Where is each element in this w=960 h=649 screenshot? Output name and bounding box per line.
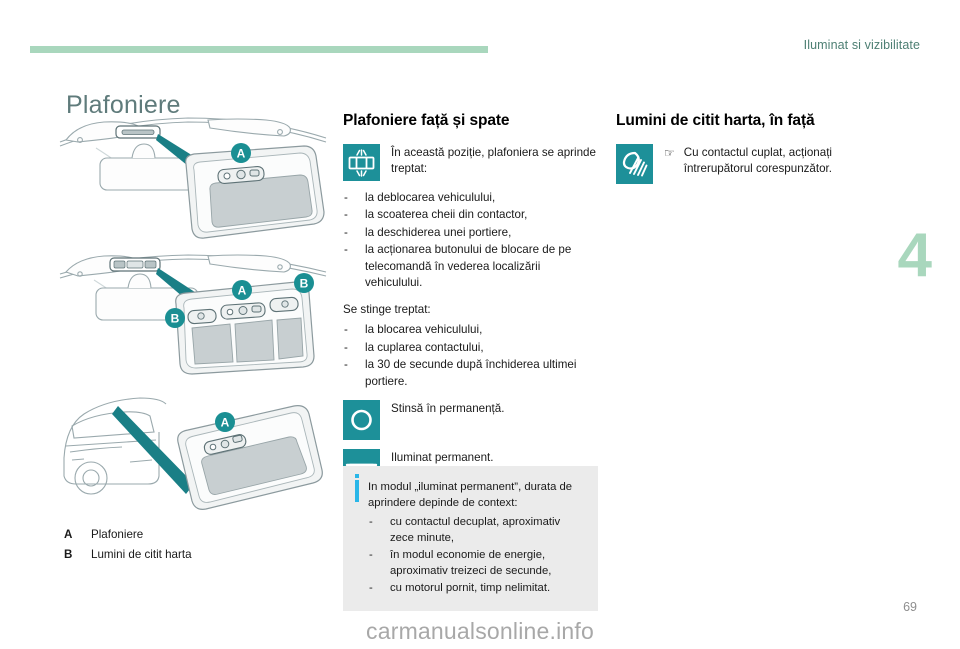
svg-text:A: A [221, 416, 230, 430]
middle-column: Plafoniere față și spate În aceas [343, 112, 599, 498]
illustration-label-a: A [232, 280, 252, 300]
symbol-permanent-text: Iluminat permanent. [391, 449, 493, 466]
illustration-legend: A Plafoniere B Lumini de citit harta [64, 525, 192, 565]
section-heading-plafoniere: Plafoniere față și spate [343, 112, 599, 130]
chapter-number: 4 [898, 225, 932, 287]
note-list: cu contactul decuplat, aproximativ zece … [355, 514, 586, 596]
list-item: la deblocarea vehiculului, [343, 190, 599, 206]
svg-text:B: B [171, 312, 180, 326]
dome-light-gradual-icon [343, 144, 380, 181]
note-box: In modul „iluminat permanent”, durata de… [343, 466, 598, 611]
symbol-off-text: Stinsă în permanență. [391, 400, 504, 417]
note-text: In modul „iluminat permanent”, durata de… [368, 479, 586, 511]
right-column: Lumini de citit harta, în față ☞ Cu cont… [616, 112, 896, 193]
list-item: în modul economie de energie, aproximati… [355, 547, 586, 579]
list-item: la scoaterea cheii din contactor, [343, 207, 599, 223]
symbol-row-gradual: În această poziție, plafoniera se aprind… [343, 144, 599, 181]
list-item: la deschiderea unei portiere, [343, 225, 599, 241]
list-item: la blocarea vehiculului, [343, 322, 599, 338]
turn-off-intro: Se stinge treptat: [343, 302, 599, 318]
legend-key-b: B [64, 545, 91, 565]
symbol-map-light-text: Cu contactul cuplat, acționați întrerupă… [684, 145, 896, 178]
turn-on-list: la deblocarea vehiculului, la scoaterea … [343, 190, 599, 292]
symbol-row-map-light: ☞ Cu contactul cuplat, acționați întreru… [616, 144, 896, 184]
header-accent-rule [30, 46, 488, 53]
illustration-label-a: A [231, 143, 251, 163]
chapter-label: Iluminat si vizibilitate [804, 38, 920, 52]
illustration-rear-ceiling-lamp: A [58, 392, 330, 522]
list-item: cu motorul pornit, timp nelimitat. [355, 580, 586, 596]
watermark: carmanualsonline.info [0, 618, 960, 645]
illustration-front-overhead-console: A [58, 112, 330, 257]
legend-label-a: Plafoniere [91, 525, 143, 545]
legend-key-a: A [64, 525, 91, 545]
list-item: la cuplarea contactului, [343, 340, 599, 356]
symbol-row-off: Stinsă în permanență. [343, 400, 599, 440]
svg-text:A: A [238, 284, 247, 298]
legend-row-b: B Lumini de citit harta [64, 545, 192, 565]
list-item: cu contactul decuplat, aproximativ zece … [355, 514, 586, 546]
symbol-gradual-text: În această poziție, plafoniera se aprind… [391, 144, 599, 178]
illustration-label-b-left: B [165, 308, 185, 328]
illustration-label-a: A [215, 412, 235, 432]
section-heading-map-lights: Lumini de citit harta, în față [616, 112, 896, 130]
info-icon [355, 480, 359, 502]
svg-text:B: B [300, 277, 309, 291]
lamp-off-circle-icon [343, 400, 380, 440]
pointing-hand-icon: ☞ [664, 145, 675, 178]
list-item: la 30 de secunde după închiderea ultimei… [343, 357, 599, 390]
svg-text:A: A [237, 147, 246, 161]
legend-label-b: Lumini de citit harta [91, 545, 192, 565]
turn-off-list: la blocarea vehiculului, la cuplarea con… [343, 322, 599, 390]
legend-row-a: A Plafoniere [64, 525, 192, 545]
list-item: la acționarea butonului de blocare de pe… [343, 242, 599, 291]
illustration-front-console-map-lights: A B B [58, 252, 330, 397]
map-reading-light-icon [616, 144, 653, 184]
page-number: 69 [903, 600, 917, 614]
illustration-label-b-right: B [294, 273, 314, 293]
